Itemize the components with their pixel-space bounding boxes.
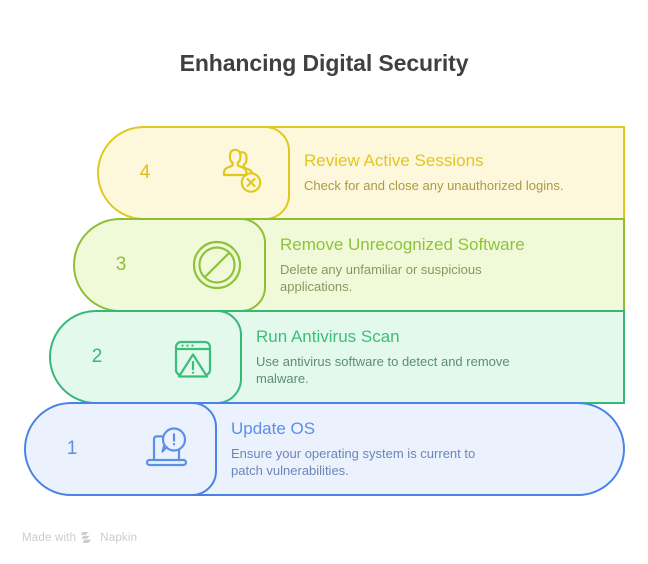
step-text-1: Update OS Ensure your operating system i… xyxy=(231,402,625,496)
step-number-3: 3 xyxy=(73,218,169,312)
step-title-3: Remove Unrecognized Software xyxy=(280,235,607,255)
step-description-4: Check for and close any unauthorized log… xyxy=(304,178,572,195)
step-card-3[interactable]: 3 Remove Unrecognized Software Delete an… xyxy=(73,218,625,312)
step-text-4: Review Active Sessions Check for and clo… xyxy=(304,126,625,220)
footer-prefix: Made with xyxy=(22,532,76,544)
step-number-4: 4 xyxy=(97,126,193,220)
footer-brand: Napkin xyxy=(100,532,137,544)
step-title-1: Update OS xyxy=(231,419,607,439)
step-number-2: 2 xyxy=(49,310,145,404)
footer-attribution: Made with Napkin xyxy=(22,531,137,544)
step-card-4[interactable]: 4 Review Active Sessions Check for and c… xyxy=(97,126,625,220)
step-title-2: Run Antivirus Scan xyxy=(256,327,607,347)
step-text-2: Run Antivirus Scan Use antivirus softwar… xyxy=(256,310,625,404)
page-title: Enhancing Digital Security xyxy=(0,50,648,77)
browser-warning-icon xyxy=(145,310,241,404)
step-description-3: Delete any unfamiliar or suspicious appl… xyxy=(280,262,548,295)
step-number-1: 1 xyxy=(24,402,120,496)
step-description-1: Ensure your operating system is current … xyxy=(231,446,499,479)
step-text-3: Remove Unrecognized Software Delete any … xyxy=(280,218,625,312)
users-remove-icon xyxy=(193,126,289,220)
steps-stack: 4 Review Active Sessions Check for and c… xyxy=(0,126,648,518)
step-card-2[interactable]: 2 Run Antivirus Scan Use antivirus softw… xyxy=(49,310,625,404)
step-title-4: Review Active Sessions xyxy=(304,151,607,171)
napkin-chevrons-icon xyxy=(81,531,95,544)
prohibited-icon xyxy=(169,218,265,312)
laptop-alert-icon xyxy=(120,402,216,496)
step-card-1[interactable]: 1 Update OS Ensure your operating system… xyxy=(24,402,625,496)
step-description-2: Use antivirus software to detect and rem… xyxy=(256,354,524,387)
